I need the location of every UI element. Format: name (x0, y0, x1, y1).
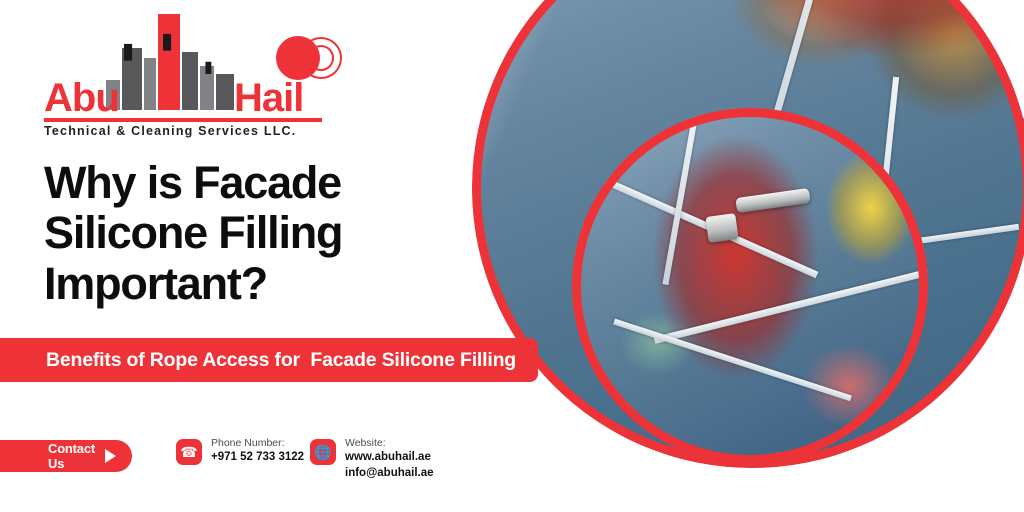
subtitle-banner: Benefits of Rope Access for Facade Silic… (0, 338, 538, 382)
contact-us-button[interactable]: Contact Us (0, 440, 132, 472)
website-url[interactable]: www.abuhail.ae (345, 450, 434, 466)
website-text: Website: www.abuhail.ae info@abuhail.ae (345, 436, 434, 481)
headline-line-2: Silicone Filling (44, 208, 464, 258)
promo-banner: ▮ ▮ ▮ Abu Hail Technical & Cleaning Serv… (0, 0, 1024, 512)
globe-icon: 🌐 (310, 439, 336, 465)
logo-dot-ring-inner (308, 45, 334, 71)
scene-bottom-art (572, 108, 928, 464)
logo-wordmark: Abu Hail (44, 76, 322, 116)
website-email[interactable]: info@abuhail.ae (345, 466, 434, 482)
climber-silhouette-icon: ▮ (204, 60, 213, 76)
phone-icon: ☎ (176, 439, 202, 465)
contact-us-label: Contact Us (48, 441, 95, 471)
website-caption: Website: (345, 436, 434, 450)
logo-word-abu: Abu (44, 76, 119, 121)
photo-bottom-image (572, 108, 928, 464)
headline-line-3: Important? (44, 259, 464, 309)
climber-silhouette-icon: ▮ (161, 30, 173, 52)
company-logo[interactable]: ▮ ▮ ▮ Abu Hail Technical & Cleaning Serv… (44, 14, 344, 132)
headline-line-1: Why is Facade (44, 158, 464, 208)
phone-value: +971 52 733 3122 (211, 450, 304, 466)
climber-silhouette-icon: ▮ (122, 40, 134, 62)
website-info[interactable]: 🌐 Website: www.abuhail.ae info@abuhail.a… (310, 436, 434, 481)
subtitle-text: Benefits of Rope Access for Facade Silic… (46, 349, 516, 372)
phone-info[interactable]: ☎ Phone Number: +971 52 733 3122 (176, 436, 304, 466)
play-arrow-icon (105, 449, 116, 463)
page-title: Why is Facade Silicone Filling Important… (44, 158, 464, 309)
phone-caption: Phone Number: (211, 436, 304, 450)
logo-tagline: Technical & Cleaning Services LLC. (44, 124, 334, 138)
phone-text: Phone Number: +971 52 733 3122 (211, 436, 304, 466)
decorative-x-marks: ×××× (946, 450, 986, 464)
logo-word-hail: Hail (234, 76, 303, 121)
photo-circle-bottom (572, 108, 928, 464)
logo-underline (44, 118, 322, 122)
